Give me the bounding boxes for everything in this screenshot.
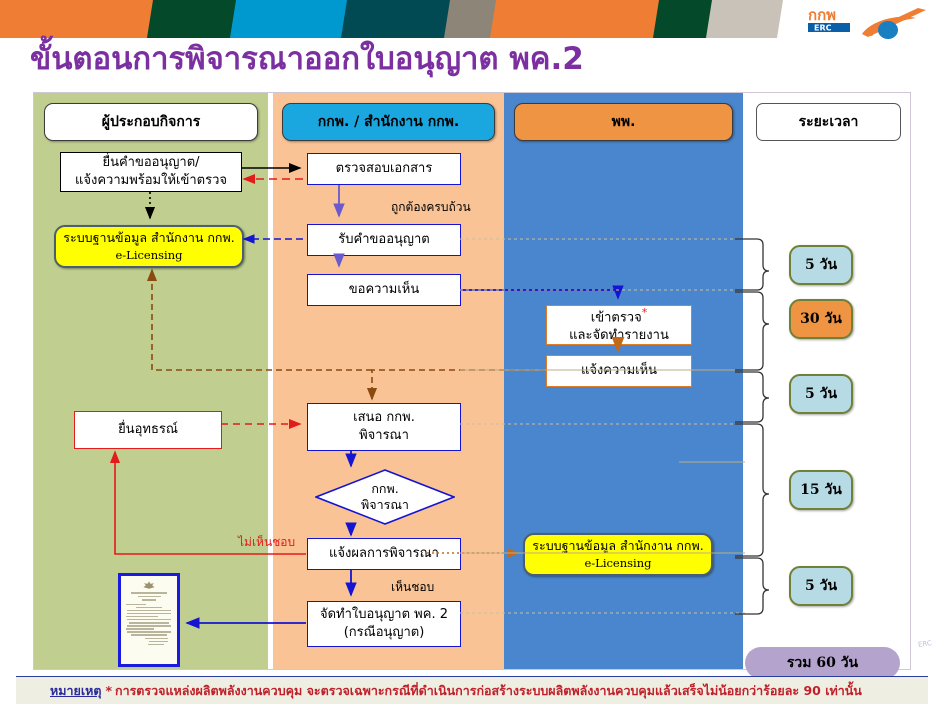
node-receive-application-label: รับคำขออนุญาต xyxy=(338,231,429,249)
node-erc-decision[interactable]: กกพ. พิจารณา xyxy=(315,469,455,525)
cert-line xyxy=(127,613,171,615)
node-elicensing-db-2-title: ระบบฐานข้อมูล สำนักงาน กกพ. xyxy=(532,537,703,556)
duration-pill-1: 5 วัน xyxy=(789,245,853,285)
license-document-thumbnail xyxy=(118,573,180,667)
node-propose-line2: พิจารณา xyxy=(359,427,409,445)
cert-line xyxy=(131,634,168,636)
lane-header-entrepreneur: ผู้ประกอบกิจการ xyxy=(44,103,258,141)
node-appeal[interactable]: ยื่นอุทธรณ์ xyxy=(74,411,222,449)
node-notify-opinion[interactable]: แจ้งความเห็น xyxy=(546,355,692,387)
edge-label-complete: ถูกต้องครบถ้วน xyxy=(391,198,471,217)
node-erc-decision-line2: พิจารณา xyxy=(361,497,409,513)
node-propose-line1: เสนอ กกพ. xyxy=(353,409,415,427)
node-request-opinion[interactable]: ขอความเห็น xyxy=(307,274,461,306)
node-elicensing-db-2[interactable]: ระบบฐานข้อมูล สำนักงาน กกพ. e-Licensing xyxy=(523,533,713,576)
node-inspect-and-report[interactable]: เข้าตรวจ* และจัดทำรายงาน xyxy=(546,305,692,345)
cert-line xyxy=(127,625,171,627)
garuda-crest-icon xyxy=(126,581,172,590)
lane-header-duration: ระยะเวลา xyxy=(756,103,901,141)
lane-header-dede: พพ. xyxy=(514,103,733,141)
node-elicensing-db-1[interactable]: ระบบฐานข้อมูล สำนักงาน กกพ. e-Licensing xyxy=(54,225,244,268)
node-notify-opinion-label: แจ้งความเห็น xyxy=(581,362,657,380)
total-duration-pill: รวม 60 วัน xyxy=(745,647,900,679)
cert-line xyxy=(138,596,161,598)
duration-pill-2: 30 วัน xyxy=(789,299,853,339)
duration-pill-1-label: 5 วัน xyxy=(805,254,837,276)
node-notify-result-label: แจ้งผลการพิจารณา xyxy=(329,545,439,563)
cert-line xyxy=(142,599,156,601)
edge-label-approve: เห็นชอบ xyxy=(391,578,434,597)
node-erc-decision-line1: กกพ. xyxy=(371,481,398,497)
node-request-opinion-label: ขอความเห็น xyxy=(349,281,419,299)
duration-pill-2-label: 30 วัน xyxy=(800,308,842,330)
edge-label-disapprove: ไม่เห็นชอบ xyxy=(238,533,295,552)
cert-line xyxy=(148,644,164,646)
node-make-license-line2: (กรณีอนุญาต) xyxy=(344,624,425,642)
duration-pill-4-label: 15 วัน xyxy=(800,479,842,501)
erc-logo: กกพ ERC xyxy=(806,4,936,40)
cert-line xyxy=(127,631,171,633)
footnote-text: การตรวจแหล่งผลิตพลังงานควบคุม จะตรวจเฉพา… xyxy=(115,681,862,701)
logo-wordmark-th: กกพ xyxy=(808,6,836,24)
node-notify-result[interactable]: แจ้งผลการพิจารณา xyxy=(307,538,461,570)
node-inspect-line2: และจัดทำรายงาน xyxy=(569,327,669,345)
node-check-documents-label: ตรวจสอบเอกสาร xyxy=(336,160,433,178)
cert-line xyxy=(131,592,167,594)
cert-line xyxy=(145,638,168,640)
footnote: หมายเหตุ * การตรวจแหล่งผลิตพลังงานควบคุม… xyxy=(16,676,928,704)
node-make-license[interactable]: จัดทำใบอนุญาต พค. 2 (กรณีอนุญาต) xyxy=(307,601,461,647)
cert-line xyxy=(127,619,171,621)
footnote-label: หมายเหตุ xyxy=(50,681,101,701)
node-check-documents[interactable]: ตรวจสอบเอกสาร xyxy=(307,153,461,185)
cert-line xyxy=(126,604,146,606)
node-receive-application[interactable]: รับคำขออนุญาต xyxy=(307,224,461,256)
duration-pill-4: 15 วัน xyxy=(789,470,853,510)
node-elicensing-db-2-sub: e-Licensing xyxy=(584,555,651,572)
node-elicensing-db-1-title: ระบบฐานข้อมูล สำนักงาน กกพ. xyxy=(63,229,234,248)
cert-block xyxy=(126,604,172,646)
node-make-license-line1: จัดทำใบอนุญาต พค. 2 xyxy=(320,606,448,624)
asterisk-marker: * xyxy=(642,306,648,319)
cert-line xyxy=(126,616,158,618)
duration-pill-3-label: 5 วัน xyxy=(805,383,837,405)
swimlane-board: ผู้ประกอบกิจการ กกพ. / สำนักงาน กกพ. พพ.… xyxy=(33,92,911,670)
node-propose-to-erc[interactable]: เสนอ กกพ. พิจารณา xyxy=(307,403,461,451)
watermark-text: ERC xyxy=(918,639,933,649)
node-apply-line2: แจ้งความพร้อมให้เข้าตรวจ xyxy=(75,172,227,190)
cert-line xyxy=(129,622,169,624)
duration-pill-3: 5 วัน xyxy=(789,374,853,414)
duration-pill-5-label: 5 วัน xyxy=(805,575,837,597)
banner-stripe xyxy=(652,0,714,38)
footnote-asterisk: * xyxy=(105,683,112,698)
duration-pill-5: 5 วัน xyxy=(789,566,853,606)
cert-line xyxy=(136,607,163,609)
logo-erc-text: ERC xyxy=(814,24,832,33)
page-title: ขั้นตอนการพิจารณาออกใบอนุญาต พค.2 xyxy=(30,33,584,83)
lane-header-erc: กกพ. / สำนักงาน กกพ. xyxy=(282,103,495,141)
node-appeal-label: ยื่นอุทธรณ์ xyxy=(118,421,178,439)
node-elicensing-db-1-sub: e-Licensing xyxy=(115,247,182,264)
total-duration-label: รวม 60 วัน xyxy=(787,652,858,674)
banner-stripe xyxy=(705,0,785,38)
node-apply-line1: ยื่นคำขออนุญาต/ xyxy=(102,154,199,172)
node-inspect-line1: เข้าตรวจ* xyxy=(591,306,647,327)
cert-line xyxy=(149,641,168,643)
node-apply[interactable]: ยื่นคำขออนุญาต/ แจ้งความพร้อมให้เข้าตรวจ xyxy=(60,152,242,192)
cert-line xyxy=(126,628,154,630)
cert-line xyxy=(127,610,171,612)
